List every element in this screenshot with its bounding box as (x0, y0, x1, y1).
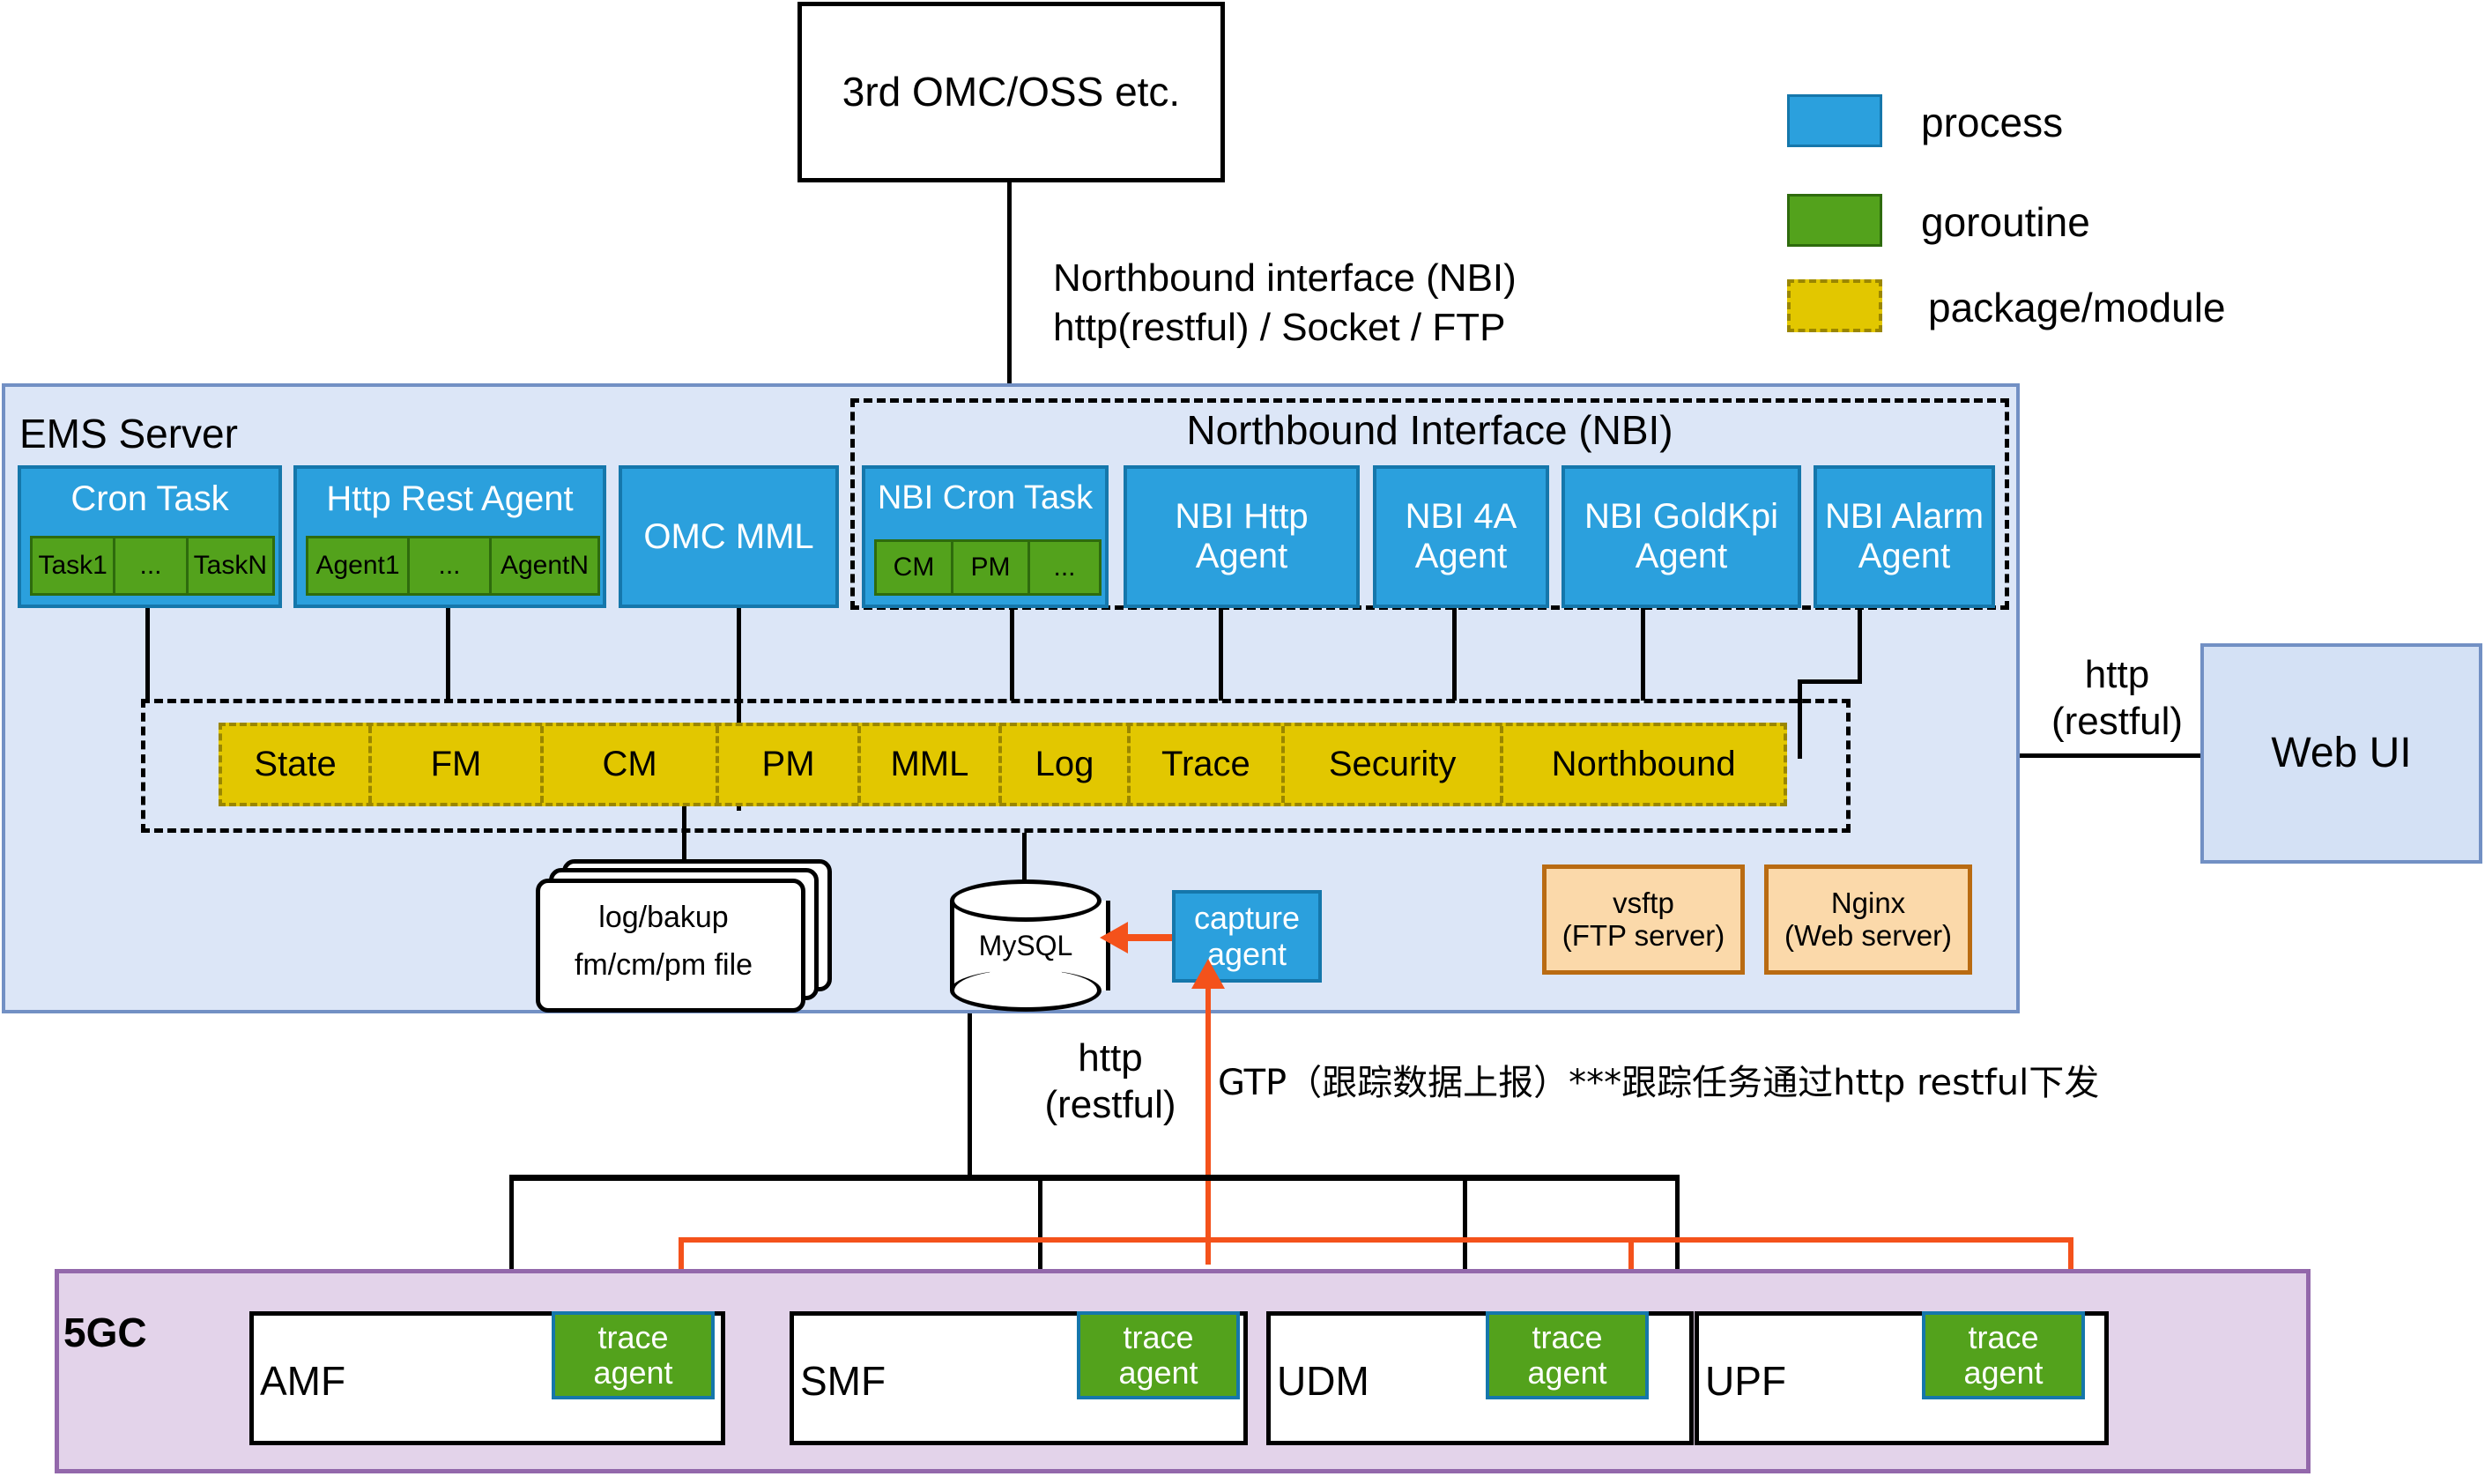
goroutine-cell[interactable]: ... (115, 538, 188, 593)
mysql-database: MySQL (950, 879, 1102, 1012)
trace-agent-amf[interactable]: trace agent (552, 1311, 715, 1399)
web-ui-box[interactable]: Web UI (2200, 643, 2482, 864)
http-restful-line2: (restful) (1013, 1082, 1207, 1129)
process-nbi-alarm-agent[interactable]: NBI Alarm Agent (1814, 465, 1995, 608)
log-backup-label-line2: fm/cm/pm file (536, 947, 791, 983)
goroutine-cell[interactable]: CM (877, 542, 953, 593)
connector-nbi-alarm-agent-vertical-upper (1858, 608, 1862, 683)
trace-agent-upf[interactable]: trace agent (1922, 1311, 2085, 1399)
webui-link-line2: (restful) (2051, 699, 2183, 746)
goroutine-row-http-rest-agent: Agent1 ... AgentN (306, 536, 600, 596)
connector-cron-task-to-modules (145, 608, 150, 701)
module-security[interactable]: Security (1285, 726, 1503, 803)
nbi-group-title: Northbound Interface (NBI) (850, 404, 2009, 458)
vsftp-label-line1: vsftp (1613, 887, 1674, 920)
module-trace[interactable]: Trace (1131, 726, 1285, 803)
connector-nbi-4a-agent-to-modules (1452, 608, 1457, 701)
process-nbi-4a-agent-title: NBI 4A Agent (1364, 497, 1558, 576)
http-restful-line1: http (1013, 1035, 1207, 1082)
log-backup-file-stack: log/bakup fm/cm/pm file (536, 859, 827, 1000)
process-nbi-goldkpi-agent-title: NBI GoldKpi Agent (1558, 497, 1805, 576)
process-nbi-http-agent-title: NBI Http Agent (1108, 497, 1376, 576)
connector-nbi-cron-task-to-modules (1010, 608, 1014, 701)
process-http-rest-agent[interactable]: Http Rest Agent Agent1 ... AgentN (293, 465, 606, 608)
process-cron-task[interactable]: Cron Task Task1 ... TaskN (18, 465, 282, 608)
connector-modules-to-mysql (1022, 833, 1027, 881)
trace-agent-upf-line2: agent (1963, 1355, 2043, 1391)
module-fm[interactable]: FM (372, 726, 544, 803)
process-omc-mml-title: OMC MML (622, 517, 835, 557)
process-nbi-cron-task-title: NBI Cron Task (865, 479, 1105, 517)
log-backup-label-line1: log/bakup (536, 900, 791, 935)
web-ui-label: Web UI (2271, 730, 2411, 777)
capture-agent-line1: capture (1176, 901, 1318, 936)
vsftp-server-box: vsftp (FTP server) (1542, 864, 1745, 975)
goroutine-cell[interactable]: Agent1 (308, 538, 410, 593)
connector-omc-to-ems (1007, 182, 1012, 383)
module-log[interactable]: Log (1002, 726, 1131, 803)
http-restful-annotation: http (restful) (1013, 1035, 1207, 1129)
goroutine-row-nbi-cron-task: CM PM ... (874, 539, 1102, 596)
northbound-interface-annotation: Northbound interface (NBI) http(restful)… (1053, 254, 1617, 353)
connector-nbi-goldkpi-agent-to-modules (1641, 608, 1645, 701)
trace-agent-smf-line1: trace (1123, 1320, 1193, 1355)
trace-trunk-vertical (1205, 983, 1211, 1265)
module-cm[interactable]: CM (544, 726, 720, 803)
node-udm-label: UDM (1277, 1357, 1369, 1405)
file-sheet-front (536, 879, 805, 1013)
nginx-label-line2: (Web server) (1784, 920, 1952, 953)
process-omc-mml[interactable]: OMC MML (619, 465, 839, 608)
module-mml[interactable]: MML (861, 726, 1002, 803)
goroutine-cell[interactable]: TaskN (189, 538, 272, 593)
connector-http-rest-agent-to-modules (446, 608, 450, 701)
process-nbi-http-agent[interactable]: NBI Http Agent (1124, 465, 1360, 608)
gtp-trace-annotation: GTP（跟踪数据上报）***跟踪任务通过http restful下发 (1218, 1054, 2099, 1105)
trace-agent-udm[interactable]: trace agent (1486, 1311, 1649, 1399)
nginx-server-box: Nginx (Web server) (1764, 864, 1972, 975)
trace-agent-amf-line1: trace (597, 1320, 668, 1355)
legend-swatch-goroutine (1787, 194, 1882, 247)
trace-agent-amf-line2: agent (593, 1355, 672, 1391)
webui-link-line1: http (2085, 652, 2149, 699)
goroutine-cell[interactable]: AgentN (492, 538, 597, 593)
module-pm[interactable]: PM (719, 726, 860, 803)
process-http-rest-agent-title: Http Rest Agent (297, 479, 603, 519)
ems-server-title: EMS Server (19, 410, 238, 457)
module-bar: State FM CM PM MML Log Trace Security No… (219, 723, 1787, 806)
goroutine-cell[interactable]: ... (410, 538, 492, 593)
vsftp-label-line2: (FTP server) (1562, 920, 1725, 953)
goroutine-row-cron-task: Task1 ... TaskN (30, 536, 275, 596)
node-upf-label: UPF (1705, 1357, 1786, 1405)
connector-nbi-alarm-agent-horizontal (1798, 679, 1862, 684)
nbi-annotation-line2: http(restful) / Socket / FTP (1053, 303, 1617, 352)
trace-agent-smf[interactable]: trace agent (1077, 1311, 1240, 1399)
arrow-capture-agent-to-mysql-head (1100, 922, 1128, 953)
process-nbi-cron-task[interactable]: NBI Cron Task CM PM ... (862, 465, 1109, 608)
node-amf-label: AMF (260, 1357, 345, 1405)
fivegc-title: 5GC (63, 1309, 147, 1356)
goroutine-cell[interactable]: PM (953, 542, 1030, 593)
legend-swatch-package-module (1787, 279, 1882, 332)
process-nbi-alarm-agent-title: NBI Alarm Agent (1810, 497, 1999, 576)
legend-label-goroutine: goroutine (1921, 198, 2090, 246)
legend-swatch-process (1787, 94, 1882, 147)
process-cron-task-title: Cron Task (21, 479, 278, 519)
nginx-label-line1: Nginx (1831, 887, 1905, 920)
bus-horizontal-trace (679, 1237, 2073, 1243)
trace-agent-smf-line2: agent (1118, 1355, 1198, 1391)
third-party-omc-oss-label: 3rd OMC/OSS etc. (842, 70, 1180, 115)
bus-horizontal-black (509, 1175, 1680, 1181)
trace-agent-udm-line1: trace (1532, 1320, 1602, 1355)
module-state[interactable]: State (222, 726, 372, 803)
goroutine-cell[interactable]: Task1 (33, 538, 115, 593)
connector-log-module-to-files (682, 806, 686, 864)
third-party-omc-oss-box: 3rd OMC/OSS etc. (797, 2, 1225, 182)
arrow-trace-trunk-head (1191, 959, 1225, 989)
trace-agent-udm-line2: agent (1527, 1355, 1606, 1391)
connector-ems-to-webui (2020, 753, 2200, 758)
process-nbi-4a-agent[interactable]: NBI 4A Agent (1373, 465, 1549, 608)
node-smf-label: SMF (800, 1357, 886, 1405)
mysql-label: MySQL (950, 879, 1102, 1012)
goroutine-cell[interactable]: ... (1030, 542, 1099, 593)
connector-nbi-http-agent-to-modules (1219, 608, 1223, 701)
webui-link-annotation: http (restful) (2036, 648, 2199, 749)
legend-label-process: process (1921, 99, 2063, 146)
connector-ems-to-5gc-trunk (968, 1013, 972, 1176)
trace-agent-upf-line1: trace (1968, 1320, 2038, 1355)
process-nbi-goldkpi-agent[interactable]: NBI GoldKpi Agent (1561, 465, 1801, 608)
nbi-annotation-line1: Northbound interface (NBI) (1053, 254, 1617, 303)
module-northbound[interactable]: Northbound (1503, 726, 1784, 803)
legend-label-package-module: package/module (1928, 284, 2226, 331)
